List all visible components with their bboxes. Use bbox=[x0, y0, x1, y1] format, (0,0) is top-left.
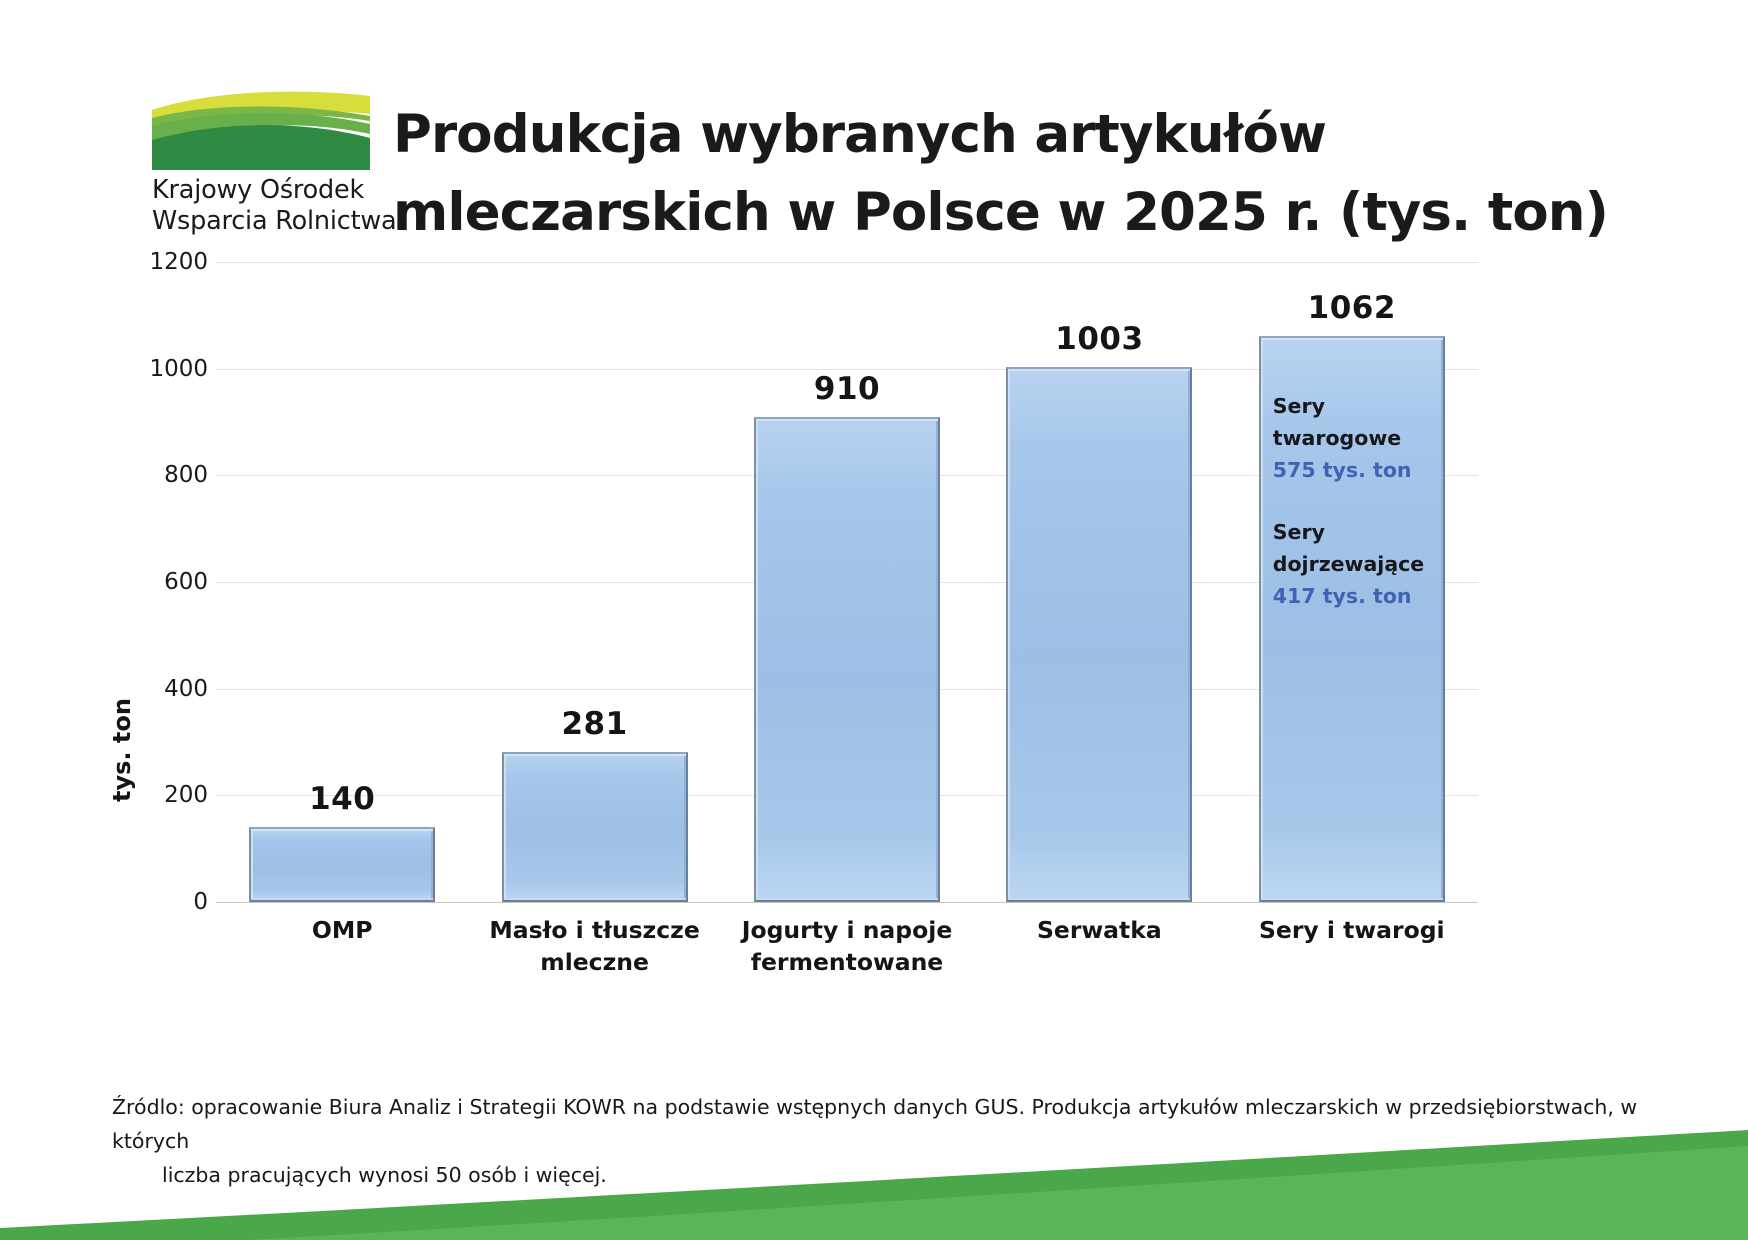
page-title-line2: mleczarskich w Polsce w 2025 r. (tys. to… bbox=[393, 174, 1723, 252]
bar-group[interactable]: 140 bbox=[249, 262, 435, 902]
bar[interactable] bbox=[754, 417, 940, 902]
annotation-value-1: 575 tys. ton bbox=[1273, 454, 1437, 486]
source-note-line1: Źródlo: opracowanie Biura Analiz i Strat… bbox=[112, 1095, 1637, 1153]
bar-chart: tys. ton 020040060080010001200 140281910… bbox=[0, 262, 1748, 1062]
bar[interactable] bbox=[249, 827, 435, 902]
y-axis-tick-label: 400 bbox=[140, 676, 208, 702]
kowr-logo-line1: Krajowy Ośrodek bbox=[152, 175, 384, 206]
page-title: Produkcja wybranych artykułów mleczarski… bbox=[393, 96, 1723, 252]
kowr-logo-wordmark: Krajowy Ośrodek Wsparcia Rolnictwa bbox=[152, 175, 384, 237]
y-axis-tick-label: 0 bbox=[140, 889, 208, 915]
bar-group[interactable]: 910 bbox=[754, 262, 940, 902]
y-axis-tick-label: 200 bbox=[140, 782, 208, 808]
y-axis-tick-label: 800 bbox=[140, 462, 208, 488]
source-note-line2: liczba pracujących wynosi 50 osób i więc… bbox=[112, 1158, 1672, 1192]
bar-value-label: 281 bbox=[502, 706, 688, 742]
x-axis-tick-label: Sery i twarogi bbox=[1226, 914, 1478, 946]
bar-group[interactable]: 1003 bbox=[1006, 262, 1192, 902]
y-axis-tick-label: 600 bbox=[140, 569, 208, 595]
slide-header: Krajowy Ośrodek Wsparcia Rolnictwa Produ… bbox=[0, 0, 1748, 262]
source-note: Źródlo: opracowanie Biura Analiz i Strat… bbox=[112, 1090, 1672, 1192]
bar-value-label: 140 bbox=[249, 781, 435, 817]
page-title-line1: Produkcja wybranych artykułów bbox=[393, 96, 1723, 174]
x-axis-tick-label: Masło i tłuszcze mleczne bbox=[468, 914, 720, 978]
annotation-label-3: Sery bbox=[1273, 516, 1437, 548]
gridline bbox=[216, 902, 1478, 903]
bar-group[interactable]: 1062Serytwarogowe575 tys. tonSerydojrzew… bbox=[1259, 262, 1445, 902]
annotation-label-4: dojrzewające bbox=[1273, 548, 1437, 580]
bar-value-label: 1062 bbox=[1259, 290, 1445, 326]
y-axis-tick-label: 1200 bbox=[140, 249, 208, 275]
annotation-label-2: twarogowe bbox=[1273, 422, 1437, 454]
slide-footer: Źródlo: opracowanie Biura Analiz i Strat… bbox=[0, 1062, 1748, 1240]
kowr-logo: Krajowy Ośrodek Wsparcia Rolnictwa bbox=[152, 88, 384, 228]
kowr-logo-mark-icon bbox=[152, 88, 370, 170]
annotation-label-1: Sery bbox=[1273, 390, 1437, 422]
x-axis-tick-labels: OMPMasło i tłuszcze mleczneJogurty i nap… bbox=[216, 914, 1478, 1004]
bar-group[interactable]: 281 bbox=[502, 262, 688, 902]
bar[interactable] bbox=[502, 752, 688, 902]
annotation-spacer bbox=[1273, 486, 1437, 516]
bar-annotation: Serytwarogowe575 tys. tonSerydojrzewając… bbox=[1273, 390, 1437, 612]
x-axis-tick-label: Jogurty i napoje fermentowane bbox=[721, 914, 973, 978]
x-axis-tick-label: Serwatka bbox=[973, 914, 1225, 946]
y-axis-tick-labels: 020040060080010001200 bbox=[140, 262, 208, 902]
y-axis-title: tys. ton bbox=[108, 698, 136, 802]
chart-bars: 14028191010031062Serytwarogowe575 tys. t… bbox=[216, 262, 1478, 902]
x-axis-tick-label: OMP bbox=[216, 914, 468, 946]
bar[interactable] bbox=[1006, 367, 1192, 902]
y-axis-tick-label: 1000 bbox=[140, 356, 208, 382]
kowr-logo-line2: Wsparcia Rolnictwa bbox=[152, 206, 384, 237]
annotation-value-2: 417 tys. ton bbox=[1273, 580, 1437, 612]
bar-value-label: 1003 bbox=[1006, 321, 1192, 357]
bar-value-label: 910 bbox=[754, 371, 940, 407]
